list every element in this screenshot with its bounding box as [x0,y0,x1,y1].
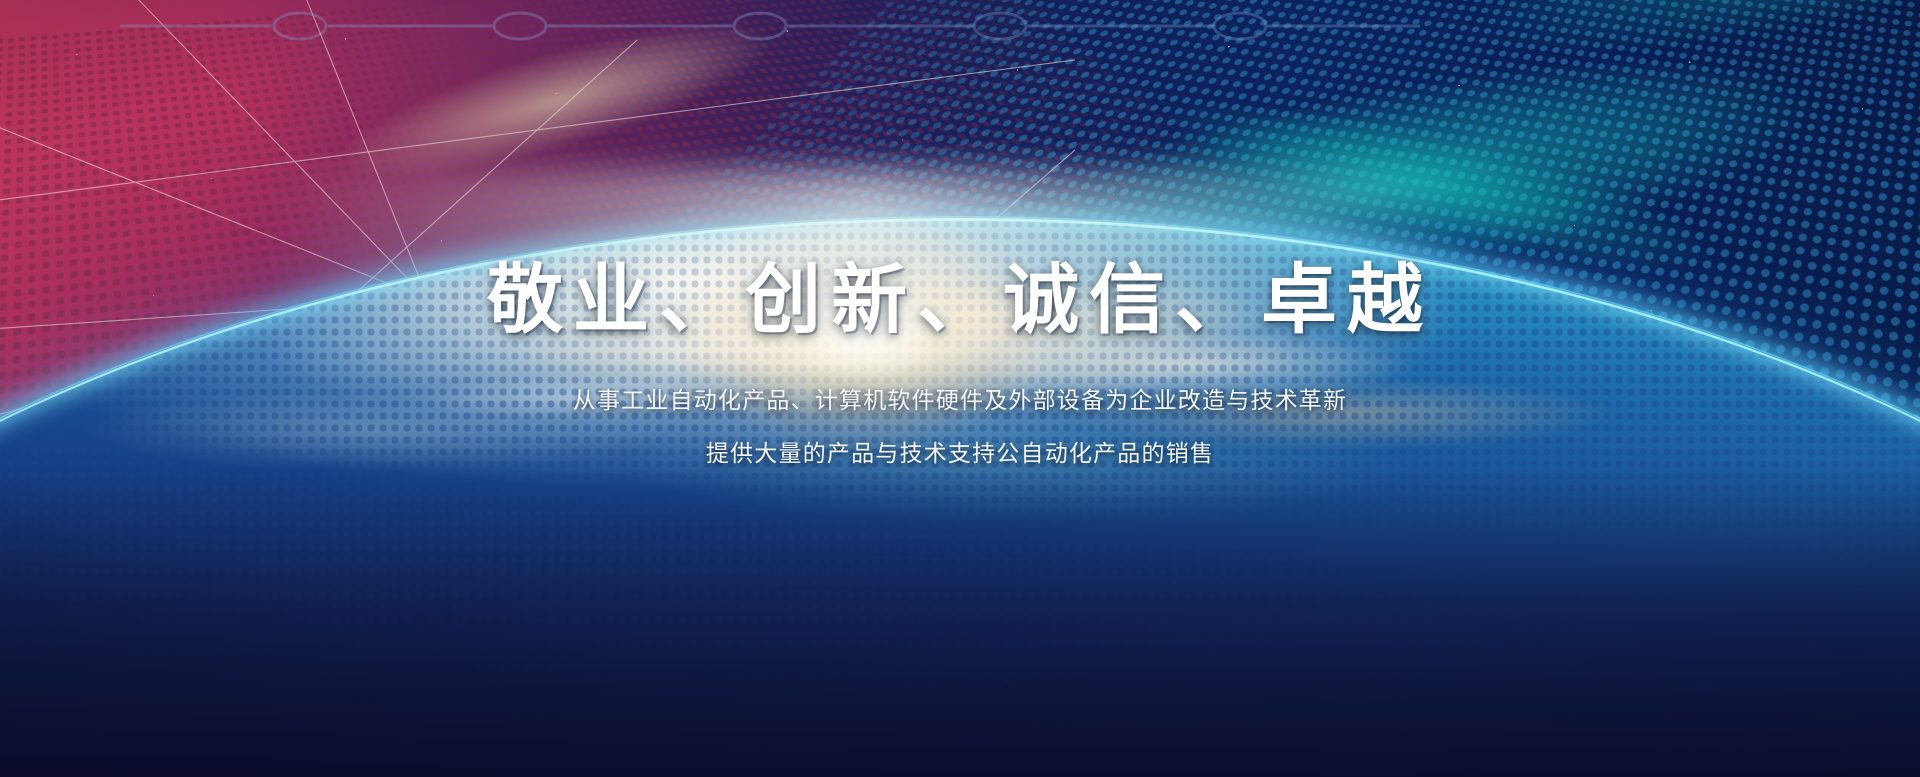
banner-subtitle-line-2: 提供大量的产品与技术支持公自动化产品的销售 [0,442,1920,465]
banner-subtitle-line-1: 从事工业自动化产品、计算机软件硬件及外部设备为企业改造与技术革新 [0,389,1920,412]
banner-headline: 敬业、创新、诚信、卓越 [0,258,1920,343]
hero-banner: 敬业、创新、诚信、卓越 从事工业自动化产品、计算机软件硬件及外部设备为企业改造与… [0,0,1920,777]
circuit-arc-decoration [0,0,1920,70]
banner-text-block: 敬业、创新、诚信、卓越 从事工业自动化产品、计算机软件硬件及外部设备为企业改造与… [0,258,1920,465]
